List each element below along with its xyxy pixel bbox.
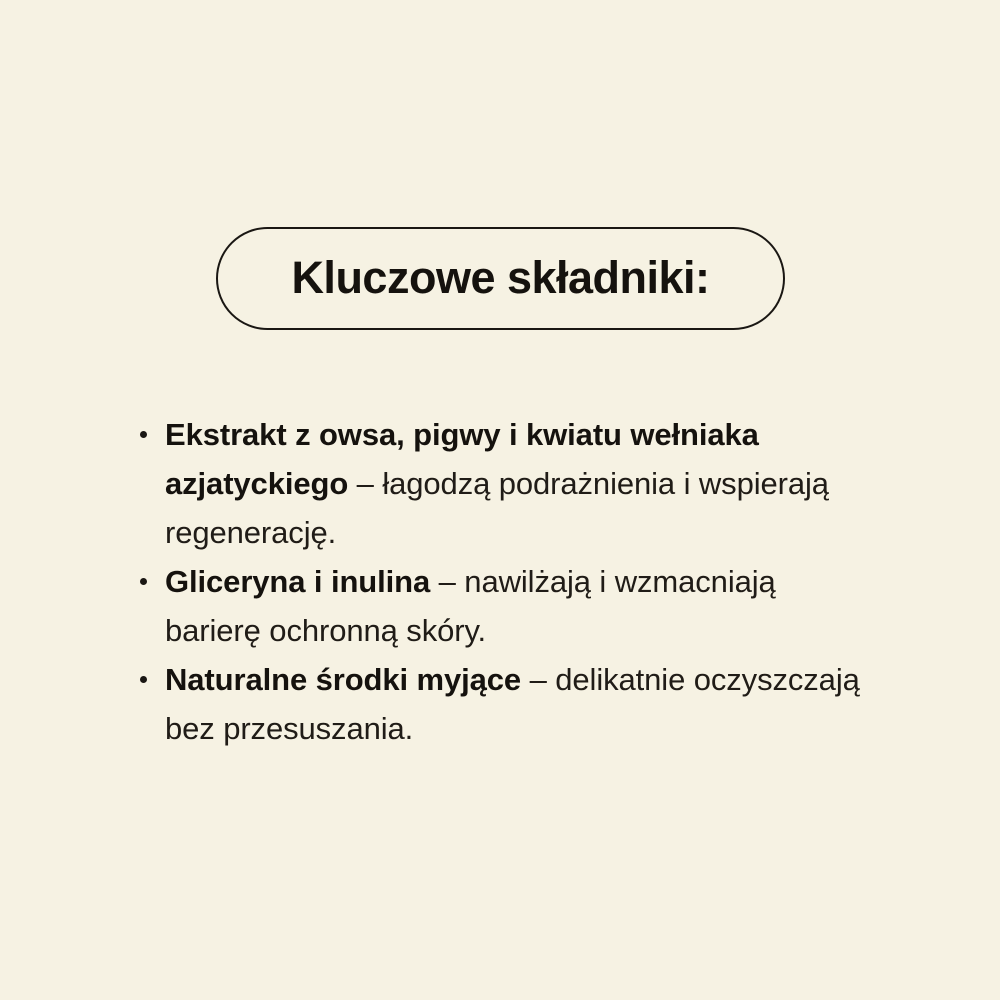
page-title: Kluczowe składniki: [291, 255, 709, 300]
title-pill: Kluczowe składniki: [216, 227, 785, 330]
ingredient-name: Naturalne środki myjące [165, 662, 521, 697]
ingredient-name: Gliceryna i inulina [165, 564, 430, 599]
list-item: Gliceryna i inulina – nawilżają i wzmacn… [132, 557, 872, 655]
ingredients-list: Ekstrakt z owsa, pigwy i kwiatu wełniaka… [132, 410, 872, 753]
slide-canvas: Kluczowe składniki: Ekstrakt z owsa, pig… [0, 0, 1000, 1000]
list-item: Ekstrakt z owsa, pigwy i kwiatu wełniaka… [132, 410, 872, 557]
bullet-dot-icon [140, 431, 147, 438]
list-item: Naturalne środki myjące – delikatnie ocz… [132, 655, 872, 753]
bullet-dot-icon [140, 676, 147, 683]
bullet-dot-icon [140, 578, 147, 585]
